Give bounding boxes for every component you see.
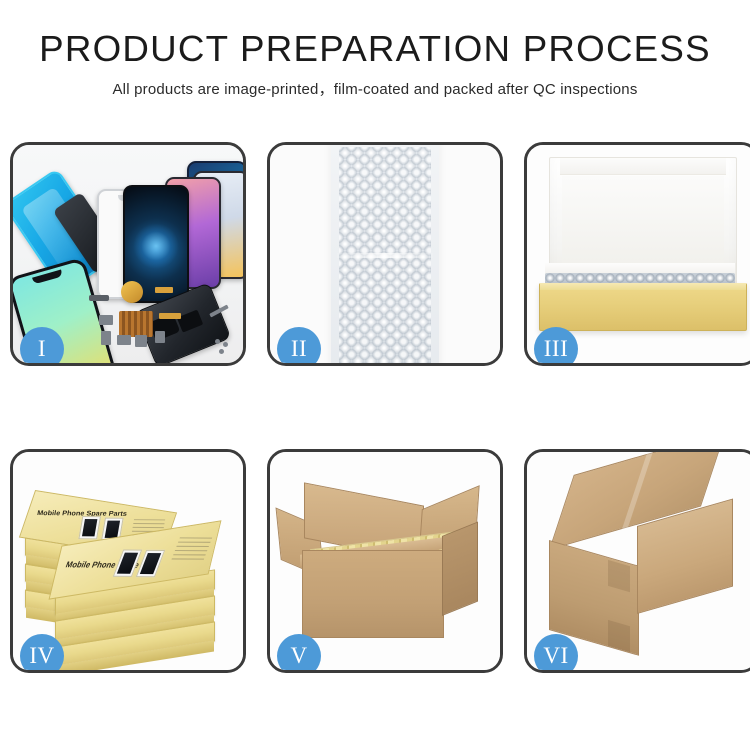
step-image-screens-and-parts: I bbox=[13, 145, 243, 363]
flex-cable-icon bbox=[155, 287, 173, 293]
screws-icon bbox=[215, 339, 220, 344]
bubble-wrap-sleeve-icon bbox=[331, 145, 439, 363]
step-badge-2: II bbox=[277, 327, 321, 363]
carton-front-face-icon bbox=[302, 550, 444, 638]
step-image-bubble-wrap: II bbox=[270, 145, 500, 363]
sim-tray-icon bbox=[101, 331, 111, 345]
logic-board-icon bbox=[119, 311, 153, 337]
step-panel-5[interactable]: V bbox=[267, 449, 503, 673]
step-panel-4[interactable]: Mobile Phone Spare Parts Mobile Phone Sp… bbox=[10, 449, 246, 673]
process-step-grid: I II III bbox=[10, 142, 740, 673]
battery-part-icon bbox=[89, 295, 109, 301]
speaker-part-icon bbox=[121, 281, 143, 303]
vibrator-part-icon bbox=[135, 335, 147, 347]
step-image-inner-box: III bbox=[527, 145, 750, 363]
carton-side-face-icon bbox=[442, 521, 478, 616]
step-panel-1[interactable]: I bbox=[10, 142, 246, 366]
step-image-retail-box-stack: Mobile Phone Spare Parts Mobile Phone Sp… bbox=[13, 452, 243, 670]
step-image-sealed-carton: VI bbox=[527, 452, 750, 670]
header: PRODUCT PREPARATION PROCESS All products… bbox=[0, 0, 750, 99]
step-badge-4: IV bbox=[20, 634, 64, 670]
flex-cable-2-icon bbox=[159, 313, 181, 319]
camera-part-icon bbox=[99, 315, 113, 325]
inner-box-base-icon bbox=[539, 283, 747, 331]
step-panel-6[interactable]: VI bbox=[524, 449, 750, 673]
step-panel-2[interactable]: II bbox=[267, 142, 503, 366]
step-badge-6: VI bbox=[534, 634, 578, 670]
carton-handle-hole-top-icon bbox=[608, 560, 630, 592]
retail-box-speclines-front bbox=[170, 537, 212, 562]
step-badge-3: III bbox=[534, 327, 578, 363]
step-badge-1: I bbox=[20, 327, 64, 363]
bubble-wrap-seam-icon bbox=[337, 253, 433, 258]
step-badge-5: V bbox=[277, 634, 321, 670]
step-image-carton-filling: V bbox=[270, 452, 500, 670]
carton-handle-hole-bottom-icon bbox=[608, 620, 630, 652]
button-part-icon bbox=[155, 331, 165, 343]
speaker-mesh-icon bbox=[117, 335, 131, 345]
step-panel-3[interactable]: III bbox=[524, 142, 750, 366]
retail-box-thumb-rear-1 bbox=[78, 516, 101, 539]
page-title: PRODUCT PREPARATION PROCESS bbox=[0, 30, 750, 68]
page-root: PRODUCT PREPARATION PROCESS All products… bbox=[0, 0, 750, 750]
page-subtitle: All products are image-printed，film-coat… bbox=[0, 78, 750, 99]
